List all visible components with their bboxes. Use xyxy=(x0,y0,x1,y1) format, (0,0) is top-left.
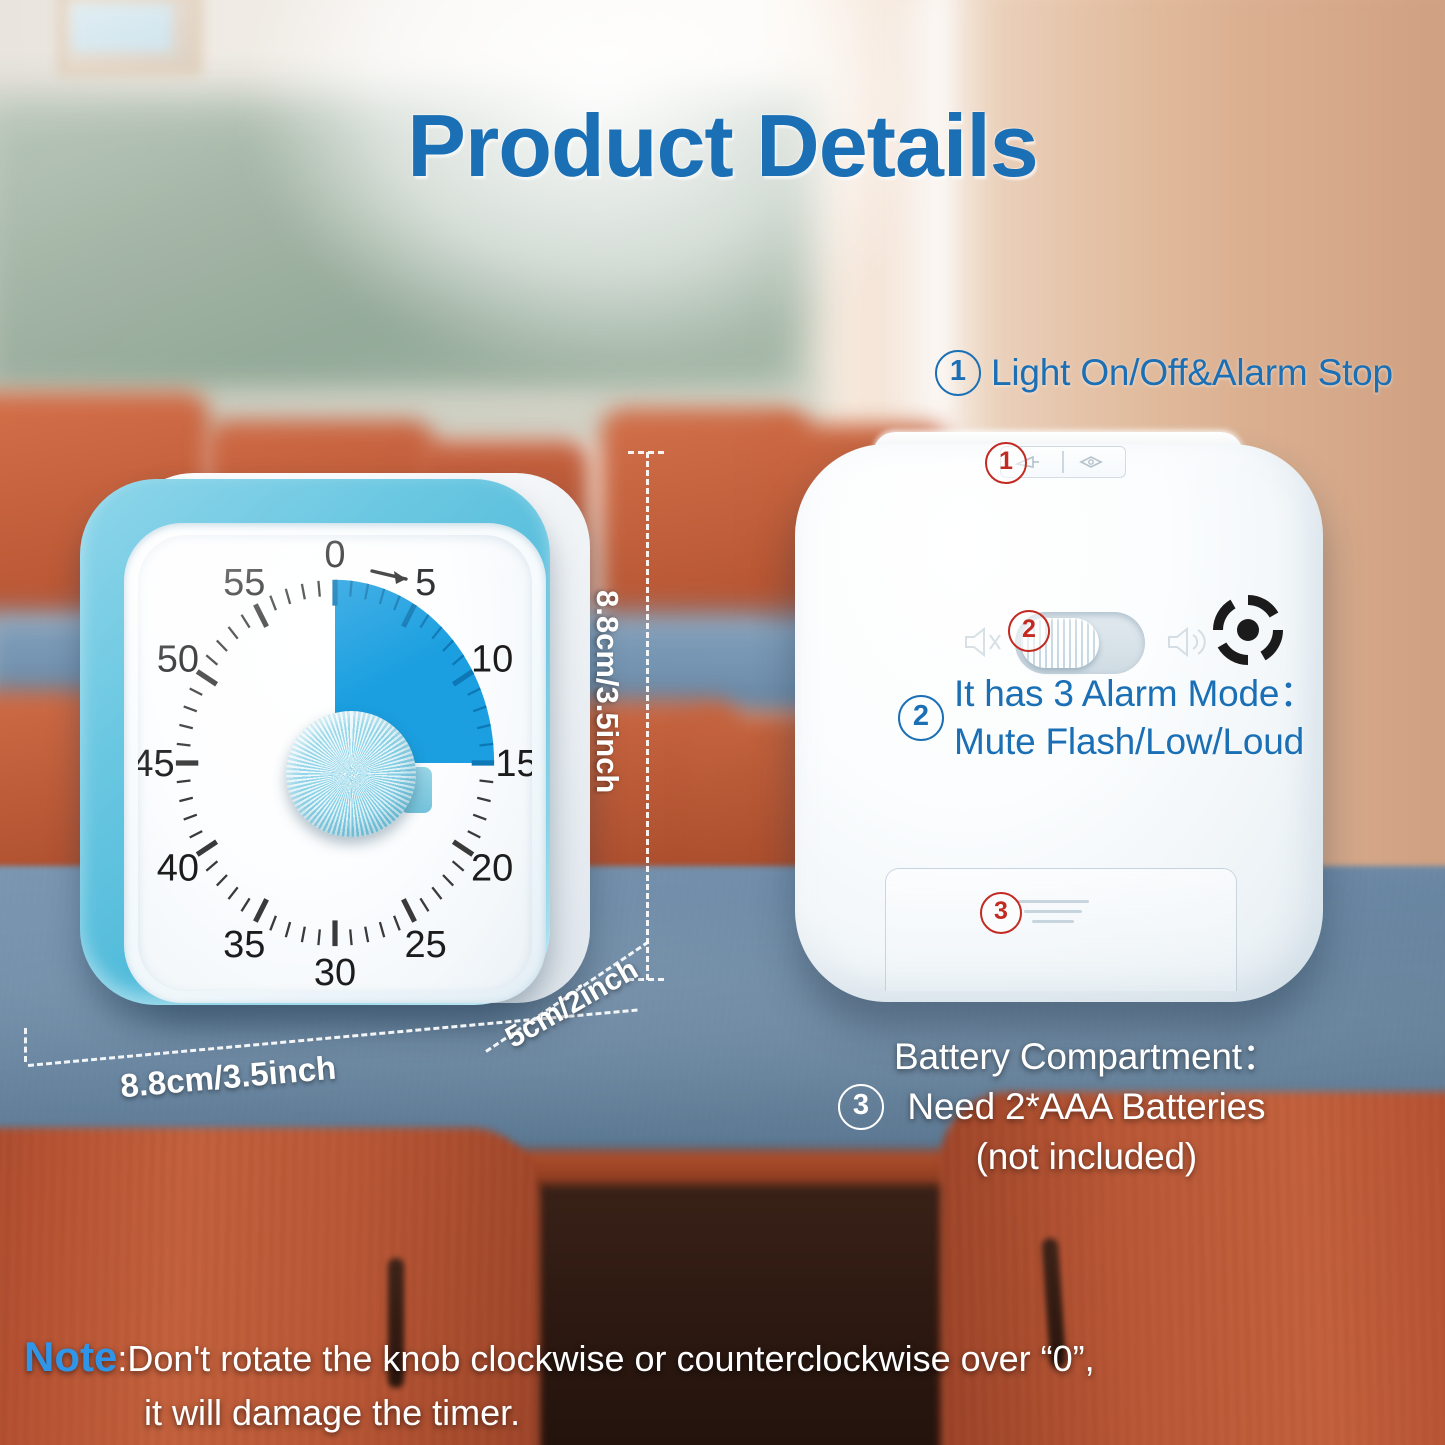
note-keyword: Note xyxy=(24,1333,117,1380)
background-picture-image xyxy=(72,4,172,52)
callout-3-text: Battery Compartment：Need 2*AAA Batteries… xyxy=(894,1032,1279,1182)
callout-3: 3Battery Compartment：Need 2*AAA Batterie… xyxy=(838,1032,1279,1182)
callout-3-line1: Battery Compartment： xyxy=(894,1036,1279,1077)
callout-2-number: 2 xyxy=(898,695,944,741)
callout-2-text: It has 3 Alarm Mode：Mute Flash/Low/Loud xyxy=(954,670,1316,766)
speaker-grille-icon xyxy=(1210,592,1286,668)
dial-number: 55 xyxy=(223,562,265,604)
marker-2: 2 xyxy=(1008,610,1050,652)
callout-2: 2It has 3 Alarm Mode：Mute Flash/Low/Loud xyxy=(898,670,1316,766)
timer-knob[interactable] xyxy=(286,711,416,837)
dial-number: 50 xyxy=(157,639,199,681)
emboss-divider xyxy=(1062,451,1064,473)
callout-3-number: 3 xyxy=(838,1084,884,1130)
dial-number: 0 xyxy=(324,535,345,576)
dial-number: 35 xyxy=(223,924,265,966)
callout-3-line2: Need 2*AAA Batteries xyxy=(907,1086,1265,1127)
dial-number: 5 xyxy=(415,562,436,604)
dial-number: 20 xyxy=(471,847,513,889)
callout-1: 1Light On/Off&Alarm Stop xyxy=(935,350,1393,396)
note-line-2: it will damage the timer. xyxy=(144,1386,1324,1440)
dial-number: 10 xyxy=(471,639,513,681)
product-detail-image: Product Details 0510152025303540455055 xyxy=(0,0,1445,1445)
dial-pointer-arrow xyxy=(372,571,406,584)
mute-icon xyxy=(960,624,1004,660)
dial-number: 25 xyxy=(405,924,447,966)
dial-number: 15 xyxy=(495,743,532,785)
dimension-label-height: 8.8cm/3.5inch xyxy=(589,590,625,793)
note-line-1: :Don't rotate the knob clockwise or coun… xyxy=(117,1338,1094,1379)
dial-number: 45 xyxy=(138,743,175,785)
bell-icon xyxy=(1077,454,1107,470)
battery-door-grip xyxy=(1017,900,1089,930)
dial-number: 30 xyxy=(314,952,356,991)
sound-icon xyxy=(1163,624,1209,660)
page-title: Product Details xyxy=(0,95,1445,197)
dial-number: 40 xyxy=(157,847,199,889)
note-block: Note:Don't rotate the knob clockwise or … xyxy=(24,1330,1324,1440)
callout-3-line3: (not included) xyxy=(976,1136,1197,1177)
callout-2-line2: Mute Flash/Low/Loud xyxy=(954,721,1304,762)
timer-bezel: 0510152025303540455055 60 Min Yunbaoit xyxy=(80,479,550,1005)
marker-3: 3 xyxy=(980,892,1022,934)
timer-front-view: 0510152025303540455055 60 Min Yunbaoit xyxy=(60,455,590,1025)
callout-1-number: 1 xyxy=(935,350,981,396)
callout-1-text: Light On/Off&Alarm Stop xyxy=(991,352,1393,394)
marker-1: 1 xyxy=(985,442,1027,484)
callout-2-line1: It has 3 Alarm Mode： xyxy=(954,673,1316,714)
